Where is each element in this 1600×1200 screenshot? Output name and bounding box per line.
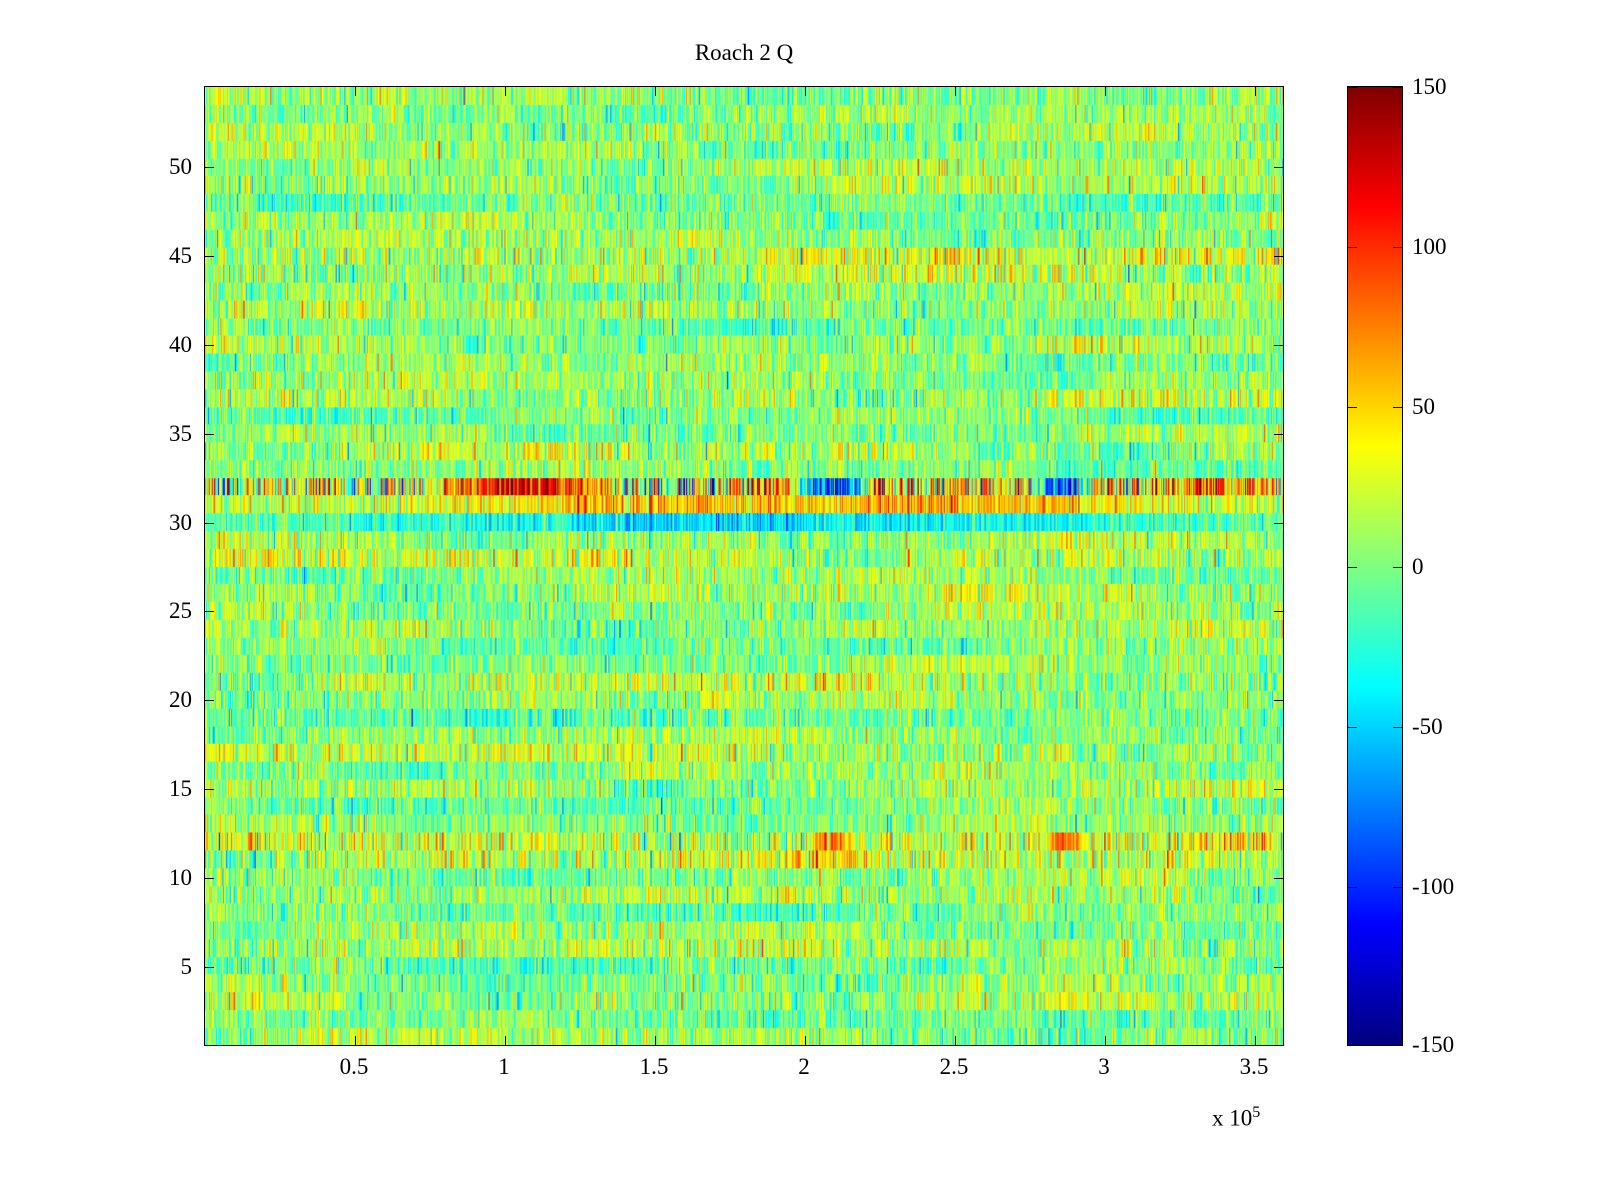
colorbar-tick (1348, 247, 1357, 248)
colorbar-tick (1393, 407, 1402, 408)
x-axis-tick (505, 87, 506, 96)
x-exponent-text: x 10 (1212, 1106, 1252, 1131)
y-axis-tick-label: 45 (169, 244, 192, 267)
x-axis-tick (655, 87, 656, 96)
y-axis-tick (205, 611, 214, 612)
y-axis-tick (1274, 700, 1283, 701)
colorbar-tick (1348, 87, 1357, 88)
y-axis-tick (1274, 167, 1283, 168)
colorbar[interactable] (1347, 86, 1403, 1046)
colorbar-tick (1393, 247, 1402, 248)
x-exponent-power: 5 (1252, 1104, 1260, 1121)
y-axis-tick (205, 967, 214, 968)
y-axis-tick (1274, 878, 1283, 879)
y-axis-tick (205, 700, 214, 701)
y-axis-tick (205, 878, 214, 879)
x-axis-tick (505, 1036, 506, 1045)
x-axis-tick (1105, 87, 1106, 96)
x-axis-tick (355, 1036, 356, 1045)
x-axis-tick (805, 87, 806, 96)
colorbar-tick (1348, 1045, 1357, 1046)
y-axis-tick (1274, 611, 1283, 612)
colorbar-tick (1348, 727, 1357, 728)
x-axis-tick-label: 0.5 (340, 1054, 369, 1080)
x-axis-tick-label: 2 (798, 1054, 810, 1080)
x-axis-tick (1255, 1036, 1256, 1045)
colorbar-tick-label: -100 (1412, 875, 1454, 898)
colorbar-tick (1393, 1045, 1402, 1046)
y-axis-tick (205, 434, 214, 435)
y-axis-tick (1274, 967, 1283, 968)
colorbar-gradient (1348, 87, 1402, 1045)
colorbar-tick-label: -150 (1412, 1033, 1454, 1056)
colorbar-tick (1348, 407, 1357, 408)
y-axis-tick (1274, 256, 1283, 257)
y-axis-tick-label: 50 (169, 155, 192, 178)
x-axis-tick (355, 87, 356, 96)
y-axis-tick (1274, 523, 1283, 524)
colorbar-tick (1393, 87, 1402, 88)
colorbar-tick (1393, 887, 1402, 888)
y-axis-tick (205, 256, 214, 257)
y-axis-tick (205, 789, 214, 790)
x-axis-tick (655, 1036, 656, 1045)
x-axis-exponent-label: x 105 (1212, 1100, 1260, 1132)
y-axis-tick (1274, 345, 1283, 346)
colorbar-tick (1393, 727, 1402, 728)
y-axis-tick (205, 345, 214, 346)
heatmap-axes[interactable] (204, 86, 1284, 1046)
colorbar-tick-label: 150 (1412, 75, 1447, 98)
x-axis-tick (805, 1036, 806, 1045)
y-axis-tick-label: 30 (169, 511, 192, 534)
y-axis-tick (1274, 789, 1283, 790)
y-axis-tick-label: 5 (181, 955, 193, 978)
chart-title: Roach 2 Q (204, 40, 1284, 66)
colorbar-tick-label: 0 (1412, 555, 1424, 578)
colorbar-tick (1393, 567, 1402, 568)
y-axis-tick-label: 10 (169, 866, 192, 889)
x-axis-tick-label: 1 (498, 1054, 510, 1080)
colorbar-tick (1348, 567, 1357, 568)
y-axis-tick (1274, 434, 1283, 435)
x-axis-tick-label: 3 (1098, 1054, 1110, 1080)
colorbar-tick (1348, 887, 1357, 888)
figure-canvas: Roach 2 Q 5101520253035404550 0.511.522.… (0, 0, 1600, 1200)
colorbar-tick-label: -50 (1412, 715, 1443, 738)
x-axis-tick (955, 87, 956, 96)
x-axis-tick-label: 1.5 (640, 1054, 669, 1080)
colorbar-tick-label: 100 (1412, 235, 1447, 258)
y-axis-tick-label: 40 (169, 333, 192, 356)
x-axis-tick-label: 3.5 (1240, 1054, 1269, 1080)
y-axis-tick-label: 15 (169, 777, 192, 800)
y-axis-tick-label: 25 (169, 599, 192, 622)
x-axis-tick (955, 1036, 956, 1045)
y-axis-tick-label: 35 (169, 422, 192, 445)
x-axis-tick-label: 2.5 (940, 1054, 969, 1080)
x-axis-tick (1255, 87, 1256, 96)
y-axis-tick (205, 523, 214, 524)
y-axis-tick-label: 20 (169, 688, 192, 711)
y-axis-tick (205, 167, 214, 168)
colorbar-tick-label: 50 (1412, 395, 1435, 418)
x-axis-tick (1105, 1036, 1106, 1045)
heatmap-image (205, 87, 1283, 1045)
